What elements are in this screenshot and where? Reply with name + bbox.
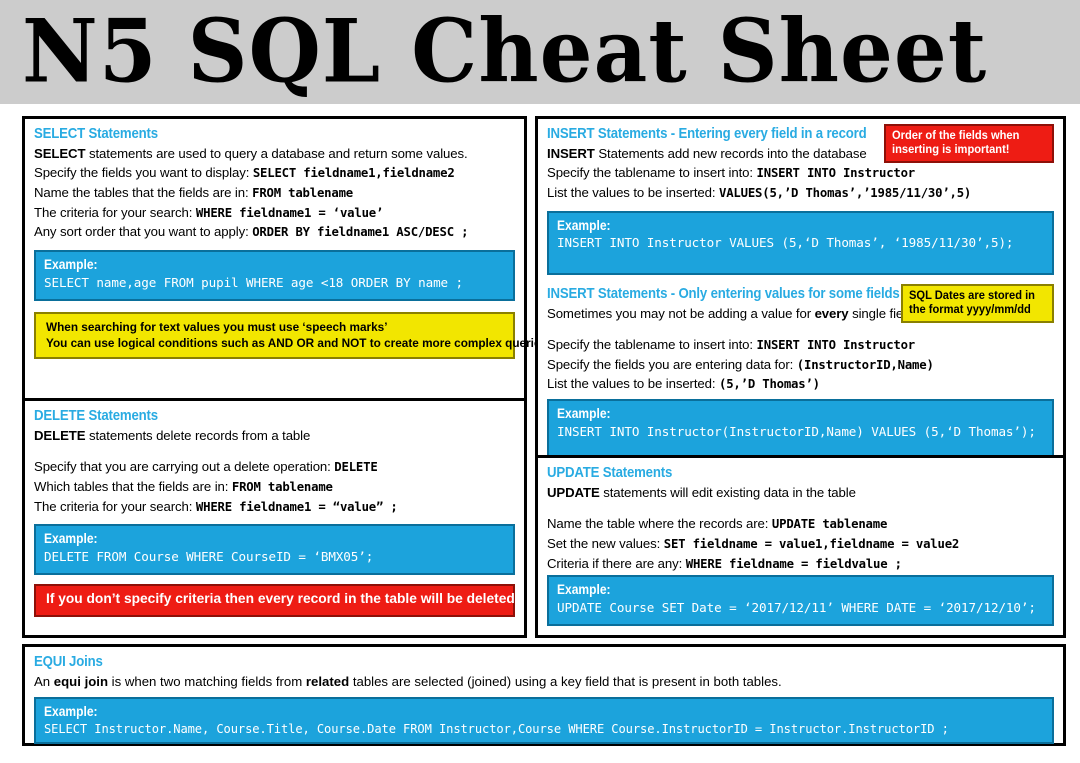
insert-some-line-fields-label: Specify the fields you are entering data… — [547, 357, 797, 372]
delete-line-where: The criteria for your search: WHERE fiel… — [34, 497, 515, 517]
select-intro-keyword: SELECT — [34, 146, 85, 161]
select-example-code: SELECT name,age FROM pupil WHERE age <18… — [44, 274, 505, 292]
delete-line-operation: Specify that you are carrying out a dele… — [34, 457, 515, 477]
equi-example-code: SELECT Instructor.Name, Course.Title, Co… — [44, 721, 1044, 739]
delete-spacer — [34, 445, 515, 457]
delete-line-where-label: The criteria for your search: — [34, 499, 196, 514]
select-heading: SELECT Statements — [34, 125, 457, 142]
update-example-label: Example: — [557, 581, 976, 598]
insert-all-line-values: List the values to be inserted: VALUES(5… — [547, 183, 1054, 203]
select-line-fields: Specify the fields you want to display: … — [34, 163, 515, 183]
select-example-box: Example: SELECT name,age FROM pupil WHER… — [34, 250, 515, 301]
insert-some-heading: INSERT Statements - Only entering values… — [547, 285, 993, 302]
equi-desc-c: tables are selected (joined) using a key… — [349, 674, 782, 689]
select-line-order: Any sort order that you want to apply: O… — [34, 222, 515, 242]
update-intro-line: UPDATE statements will edit existing dat… — [547, 483, 1054, 502]
insert-some-line-fields: Specify the fields you are entering data… — [547, 355, 1054, 375]
badge-date-format-line-2: the format yyyy/mm/dd — [909, 303, 1041, 317]
select-line-where-label: The criteria for your search: — [34, 205, 196, 220]
equi-desc-b: is when two matching fields from — [108, 674, 306, 689]
insert-some-line-fields-code: (InstructorID,Name) — [797, 358, 934, 372]
update-line-table-label: Name the table where the records are: — [547, 516, 772, 531]
insert-all-line-table: Specify the tablename to insert into: IN… — [547, 163, 1054, 183]
update-line-set-label: Set the new values: — [547, 536, 664, 551]
insert-some-intro-keyword: every — [815, 306, 849, 321]
cheat-sheet-body: SELECT Statements SELECT statements are … — [0, 104, 1080, 763]
delete-intro-text: statements delete records from a table — [85, 428, 310, 443]
badge-field-order-line-2: inserting is important! — [892, 143, 1041, 157]
insert-all-line-values-code: VALUES(5,’D Thomas’,’1985/11/30’,5) — [719, 186, 971, 200]
delete-example-label: Example: — [44, 530, 440, 547]
panel-update-statements: UPDATE Statements UPDATE statements will… — [535, 455, 1066, 638]
delete-line-from: Which tables that the fields are in: FRO… — [34, 477, 515, 497]
delete-warning-box: If you don’t specify criteria then every… — [34, 584, 515, 617]
delete-line-where-code: WHERE fieldname1 = “value” ; — [196, 500, 398, 514]
update-heading: UPDATE Statements — [547, 464, 993, 481]
delete-line-from-code: FROM tablename — [232, 480, 333, 494]
update-intro-text: statements will edit existing data in th… — [600, 485, 856, 500]
delete-line-operation-code: DELETE — [334, 460, 377, 474]
update-line-where-label: Criteria if there are any: — [547, 556, 686, 571]
equi-description: An equi join is when two matching fields… — [34, 672, 1054, 692]
panel-delete-statements: DELETE Statements DELETE statements dele… — [22, 398, 527, 638]
insert-some-example-box: Example: INSERT INTO Instructor(Instruct… — [547, 399, 1054, 463]
update-example-box: Example: UPDATE Course SET Date = ‘2017/… — [547, 575, 1054, 626]
insert-all-example-code: INSERT INTO Instructor VALUES (5,‘D Thom… — [557, 234, 1044, 252]
panel-insert-statements: Order of the fields when inserting is im… — [535, 116, 1066, 459]
update-example-code: UPDATE Course SET Date = ‘2017/12/11’ WH… — [557, 599, 1044, 617]
insert-some-example-code: INSERT INTO Instructor(InstructorID,Name… — [557, 423, 1044, 441]
select-line-order-code: ORDER BY fieldname1 ASC/DESC ; — [252, 225, 468, 239]
select-line-from-label: Name the tables that the fields are in: — [34, 185, 252, 200]
delete-example-code: DELETE FROM Course WHERE CourseID = ‘BMX… — [44, 548, 505, 566]
delete-warning-text: If you don’t specify criteria then every… — [46, 591, 489, 609]
update-spacer — [547, 502, 1054, 514]
select-note-line-2: You can use logical conditions such as A… — [46, 335, 480, 351]
equi-desc-term-2: related — [306, 674, 349, 689]
update-line-where-code: WHERE fieldname = fieldvalue ; — [686, 557, 902, 571]
insert-all-example-box: Example: INSERT INTO Instructor VALUES (… — [547, 211, 1054, 275]
update-line-set: Set the new values: SET fieldname = valu… — [547, 534, 1054, 554]
equi-heading: EQUI Joins — [34, 653, 932, 670]
select-line-from-code: FROM tablename — [252, 186, 353, 200]
delete-intro-line: DELETE statements delete records from a … — [34, 426, 515, 445]
insert-some-line-values-code: (5,’D Thomas’) — [719, 377, 820, 391]
update-line-table: Name the table where the records are: UP… — [547, 514, 1054, 534]
delete-heading: DELETE Statements — [34, 407, 457, 424]
insert-all-line-table-code: INSERT INTO Instructor — [757, 166, 915, 180]
equi-desc-a: An — [34, 674, 54, 689]
select-line-from: Name the tables that the fields are in: … — [34, 183, 515, 203]
select-note-box: When searching for text values you must … — [34, 312, 515, 359]
panel-select-statements: SELECT Statements SELECT statements are … — [22, 116, 527, 402]
insert-all-line-values-label: List the values to be inserted: — [547, 185, 719, 200]
panel-equi-joins: EQUI Joins An equi join is when two matc… — [22, 644, 1066, 746]
insert-some-intro-text-a: Sometimes you may not be adding a value … — [547, 306, 815, 321]
select-example-label: Example: — [44, 256, 440, 273]
equi-example-label: Example: — [44, 703, 904, 720]
delete-line-operation-label: Specify that you are carrying out a dele… — [34, 459, 334, 474]
insert-all-line-table-label: Specify the tablename to insert into: — [547, 165, 757, 180]
select-note-line-1: When searching for text values you must … — [46, 319, 480, 335]
select-line-where-code: WHERE fieldname1 = ‘value’ — [196, 206, 383, 220]
update-line-table-code: UPDATE tablename — [772, 517, 887, 531]
insert-some-spacer — [547, 323, 1054, 335]
select-line-where: The criteria for your search: WHERE fiel… — [34, 203, 515, 223]
insert-some-line-table: Specify the tablename to insert into: IN… — [547, 335, 1054, 355]
select-line-fields-code: SELECT fieldname1,fieldname2 — [253, 166, 455, 180]
select-line-fields-label: Specify the fields you want to display: — [34, 165, 253, 180]
insert-some-line-values: List the values to be inserted: (5,’D Th… — [547, 374, 1054, 394]
equi-desc-term-1: equi join — [54, 674, 108, 689]
insert-some-line-table-code: INSERT INTO Instructor — [757, 338, 915, 352]
insert-all-intro-text: Statements add new records into the data… — [595, 146, 867, 161]
page-title: N5 SQL Cheat Sheet — [22, 8, 987, 95]
insert-all-example-label: Example: — [557, 217, 976, 234]
insert-all-intro-keyword: INSERT — [547, 146, 595, 161]
update-line-set-code: SET fieldname = value1,fieldname = value… — [664, 537, 959, 551]
update-line-where: Criteria if there are any: WHERE fieldna… — [547, 554, 1054, 574]
equi-example-box: Example: SELECT Instructor.Name, Course.… — [34, 697, 1054, 744]
delete-line-from-label: Which tables that the fields are in: — [34, 479, 232, 494]
insert-some-line-table-label: Specify the tablename to insert into: — [547, 337, 757, 352]
select-intro-text: statements are used to query a database … — [85, 146, 467, 161]
delete-example-box: Example: DELETE FROM Course WHERE Course… — [34, 524, 515, 575]
update-intro-keyword: UPDATE — [547, 485, 600, 500]
insert-some-example-label: Example: — [557, 405, 976, 422]
select-line-order-label: Any sort order that you want to apply: — [34, 224, 252, 239]
delete-intro-keyword: DELETE — [34, 428, 85, 443]
page-header: N5 SQL Cheat Sheet — [0, 0, 1080, 104]
insert-all-heading: INSERT Statements - Entering every field… — [547, 125, 993, 142]
insert-some-line-values-label: List the values to be inserted: — [547, 376, 719, 391]
select-intro-line: SELECT statements are used to query a da… — [34, 144, 515, 163]
